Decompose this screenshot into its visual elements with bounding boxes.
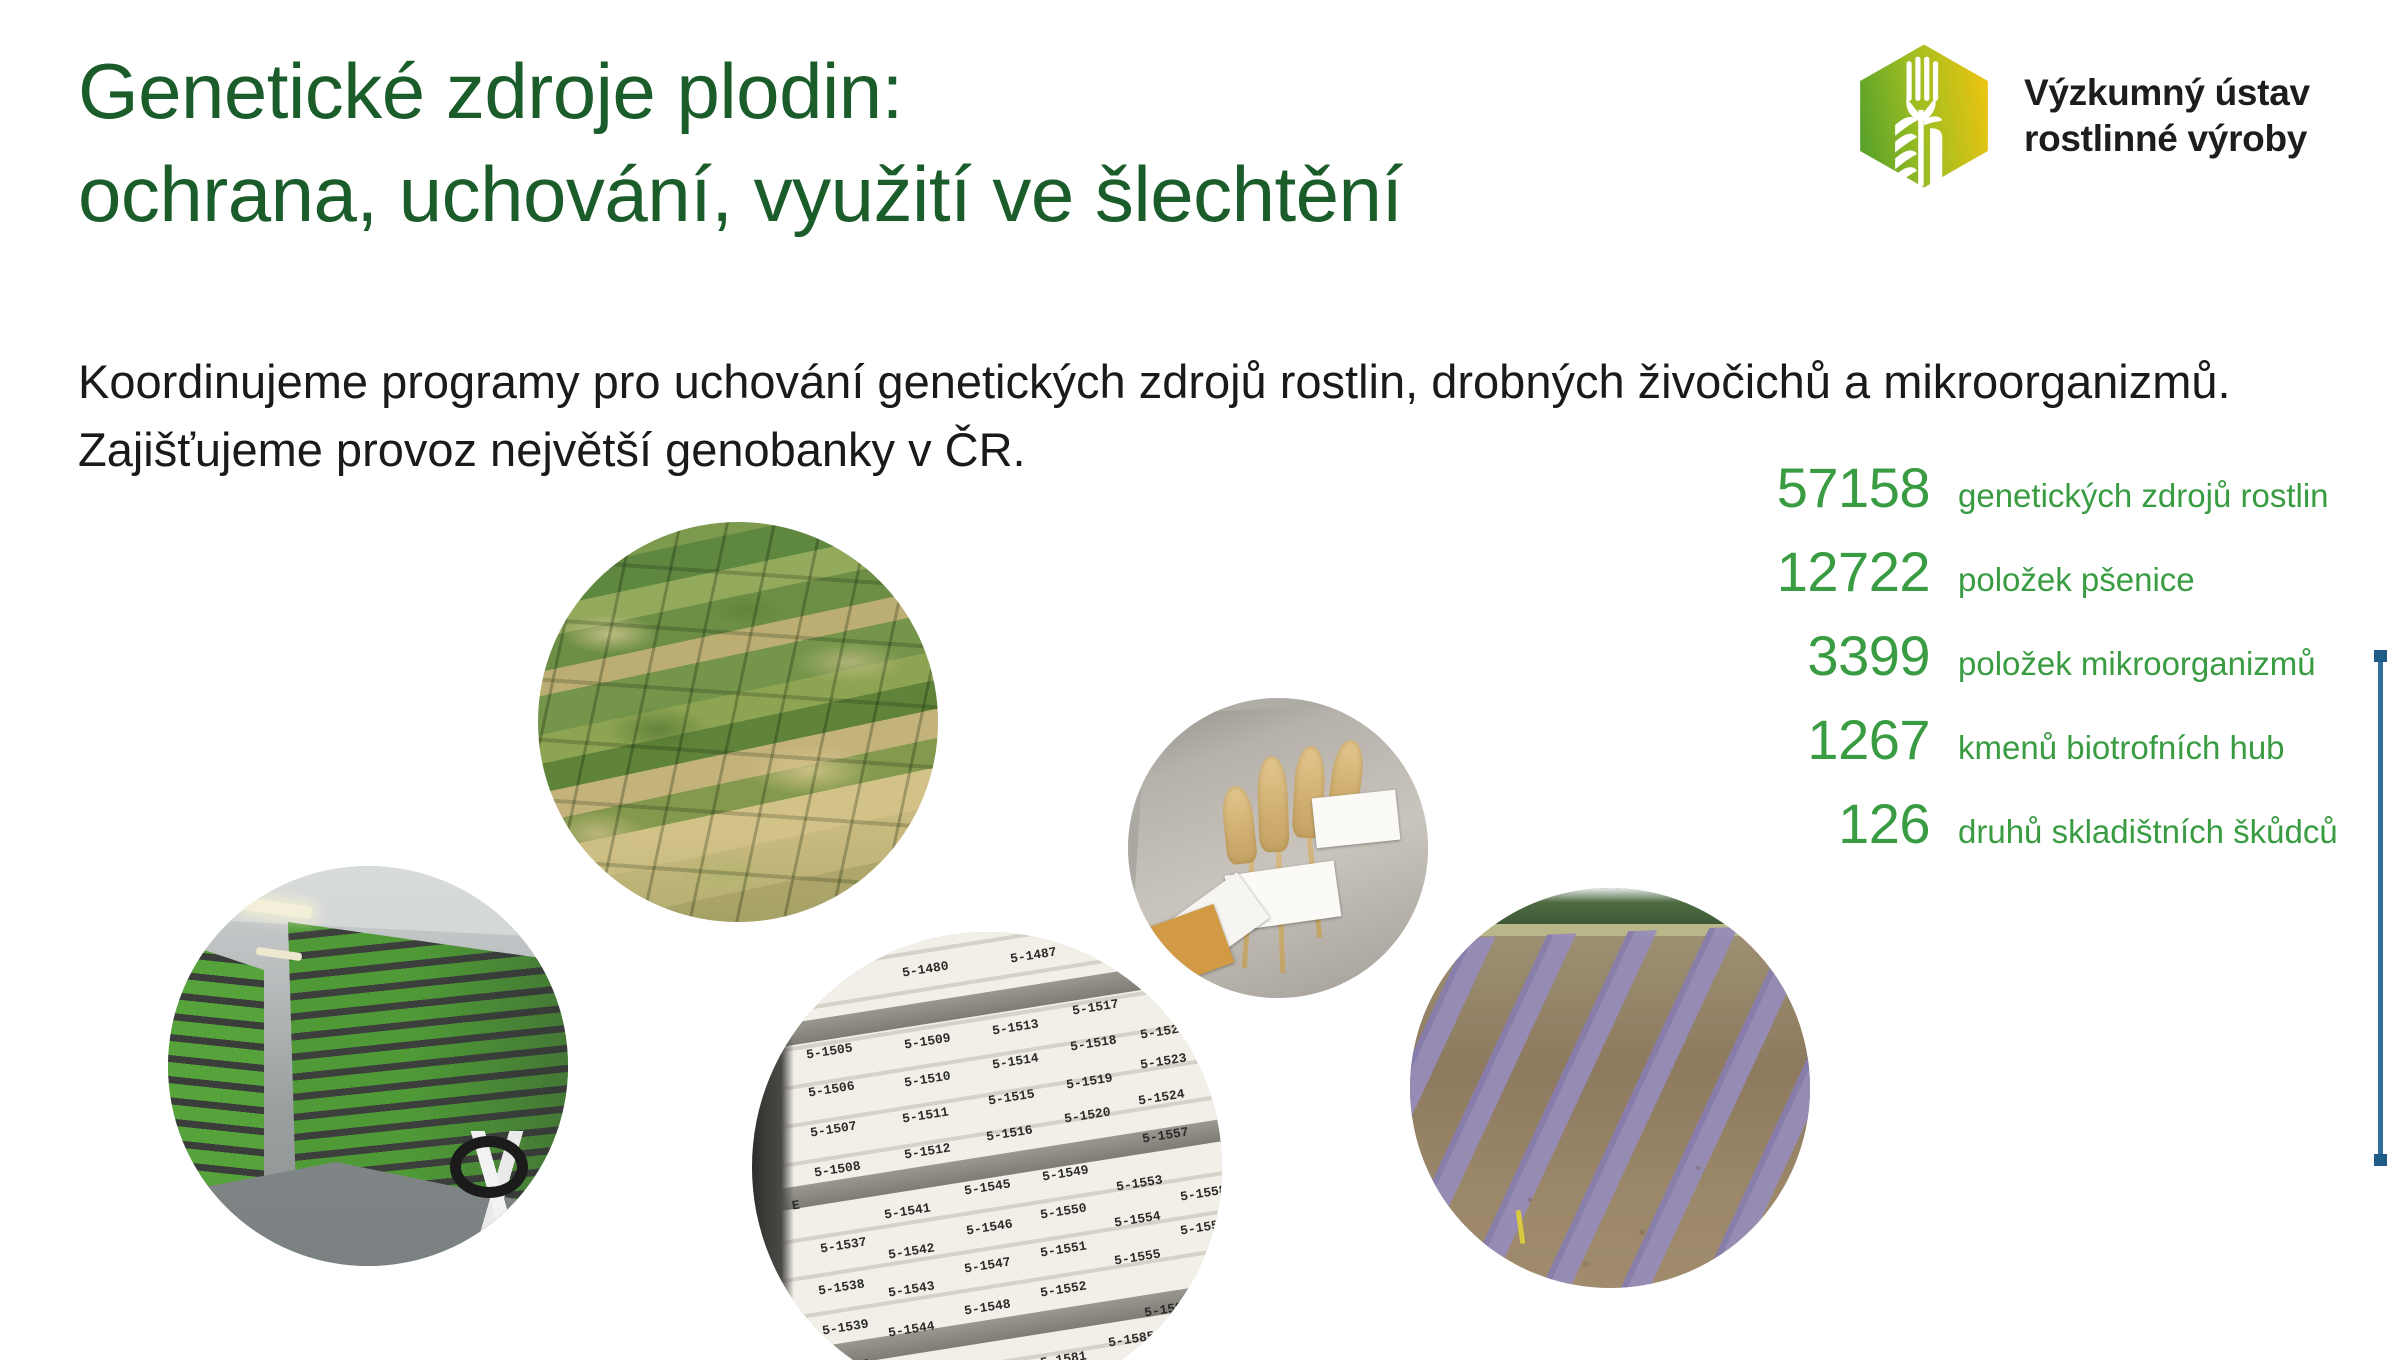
right-edge-bracket <box>2378 650 2383 1166</box>
organization-logo: Výzkumný ústav rostlinné výroby <box>1848 38 2328 193</box>
stat-label: položek pšenice <box>1958 563 2195 596</box>
stat-value: 57158 <box>1730 460 1930 516</box>
stat-label: druhů skladištních škůdců <box>1958 815 2338 848</box>
cold-storage-photo <box>168 866 568 1266</box>
lavender-field-photo <box>1410 888 1810 1288</box>
specimen-label <box>1312 790 1401 849</box>
crop-plots-photo <box>538 522 938 922</box>
stat-row: 1267 kmenů biotrofních hub <box>1730 712 2370 774</box>
stat-label: genetických zdrojů rostlin <box>1958 479 2329 512</box>
lavender-soil-texture <box>1410 888 1810 1288</box>
archive-cabinet-edge <box>752 932 794 1360</box>
stat-value: 12722 <box>1730 544 1930 600</box>
logo-wordmark-line-2: rostlinné výroby <box>2024 116 2310 161</box>
page-title: Genetické zdroje plodin: ochrana, uchová… <box>78 40 1838 246</box>
stat-row: 57158 genetických zdrojů rostlin <box>1730 460 2370 522</box>
crop-plots-row-lines <box>538 522 938 922</box>
archive-boxes-photo: 5-1480 5-1487 5-1505 5-1509 5-1513 5-151… <box>752 932 1222 1360</box>
hexagon-wheat-fork-icon <box>1848 40 2000 192</box>
stat-row: 12722 položek pšenice <box>1730 544 2370 606</box>
title-line-2: ochrana, uchování, využití ve šlechtění <box>78 143 1838 246</box>
title-line-1: Genetické zdroje plodin: <box>78 40 1838 143</box>
statistics-list: 57158 genetických zdrojů rostlin 12722 p… <box>1730 460 2370 880</box>
stat-row: 126 druhů skladištních škůdců <box>1730 796 2370 858</box>
stat-value: 126 <box>1730 796 1930 852</box>
stat-value: 3399 <box>1730 628 1930 684</box>
stat-row: 3399 položek mikroorganizmů <box>1730 628 2370 690</box>
stat-label: položek mikroorganizmů <box>1958 647 2316 680</box>
handwheel-icon <box>450 1136 528 1198</box>
logo-wordmark-line-1: Výzkumný ústav <box>2024 70 2310 115</box>
slide-canvas: Genetické zdroje plodin: ochrana, uchová… <box>0 0 2400 1360</box>
stat-value: 1267 <box>1730 712 1930 768</box>
logo-wordmark: Výzkumný ústav rostlinné výroby <box>2024 70 2310 160</box>
stat-label: kmenů biotrofních hub <box>1958 731 2285 764</box>
